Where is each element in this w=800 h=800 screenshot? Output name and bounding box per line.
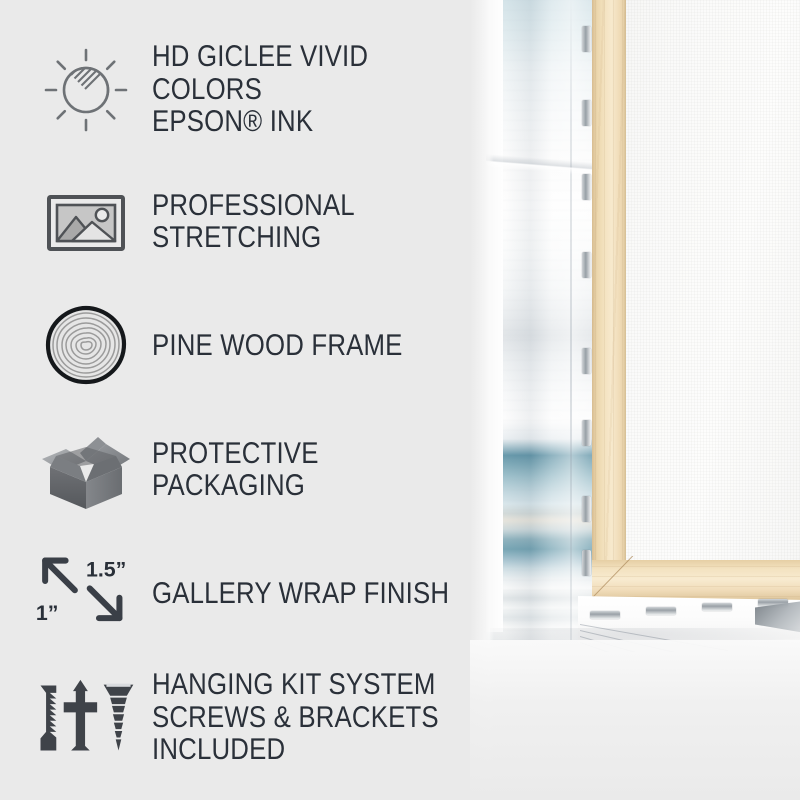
feature-item-pine-wood-frame: PINE WOOD FRAME (34, 294, 504, 398)
infographic-canvas: HD GICLEE VIVID COLORS EPSON® INK PROFES… (0, 0, 800, 800)
photo-bottom-fade (470, 640, 800, 800)
staple (582, 100, 591, 126)
staple (646, 607, 676, 615)
staple (582, 26, 591, 52)
feature-label: HANGING KIT SYSTEM SCREWS & BRACKETS INC… (152, 669, 455, 766)
feature-label: PROFESSIONAL STRETCHING (152, 190, 455, 255)
staple (582, 348, 591, 374)
feature-item-hd-giclee: HD GICLEE VIVID COLORS EPSON® INK (34, 38, 504, 142)
wood-grain-texture-secondary (592, 0, 626, 602)
staple (582, 252, 591, 278)
staple (582, 550, 591, 576)
wood-grain-texture-bottom (592, 560, 800, 600)
feature-item-protective-packaging: PROTECTIVE PACKAGING (34, 418, 504, 522)
wood-rings-icon (34, 294, 138, 398)
product-photo (470, 0, 800, 800)
feature-item-professional-stretching: PROFESSIONAL STRETCHING (34, 170, 504, 274)
canvas-fold-line (570, 0, 572, 640)
feature-label: PINE WOOD FRAME (152, 330, 403, 362)
depth-arrows-icon: 1.5” 1” (34, 542, 138, 646)
feature-item-hanging-kit: HANGING KIT SYSTEM SCREWS & BRACKETS INC… (34, 666, 504, 770)
staple (702, 603, 732, 611)
staple (590, 611, 620, 619)
hanging-hardware-icon (34, 666, 138, 770)
feature-list: HD GICLEE VIVID COLORS EPSON® INK PROFES… (0, 0, 500, 800)
width-dimension-label: 1” (36, 601, 59, 625)
feature-label: HD GICLEE VIVID COLORS EPSON® INK (152, 41, 455, 138)
feature-label: PROTECTIVE PACKAGING (152, 438, 455, 503)
pine-stretcher-bar-vertical (592, 0, 626, 602)
feature-label: GALLERY WRAP FINISH (152, 578, 449, 610)
framed-picture-icon (34, 170, 138, 274)
staple (582, 174, 591, 200)
open-box-icon (34, 418, 138, 522)
staple (582, 496, 591, 522)
depth-dimension-label: 1.5” (86, 557, 126, 581)
sun-giclee-icon (34, 38, 138, 142)
staple (582, 420, 591, 446)
pine-stretcher-bar-horizontal (592, 560, 800, 600)
feature-item-gallery-wrap-finish: 1.5” 1” GALLERY WRAP FINISH (34, 542, 504, 646)
